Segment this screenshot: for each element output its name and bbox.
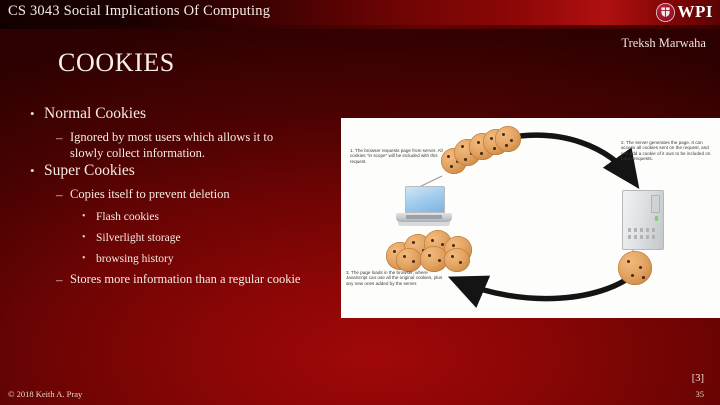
bullet-text: browsing history <box>96 252 174 266</box>
presentation-slide: CS 3043 Social Implications Of Computing… <box>0 0 720 405</box>
slide-header-band: CS 3043 Social Implications Of Computing… <box>0 0 720 25</box>
slide-title: COOKIES <box>58 48 175 78</box>
single-cookie-icon <box>618 251 652 285</box>
laptop-icon <box>396 186 452 228</box>
author-name: Treksh Marwaha <box>621 36 706 51</box>
server-icon <box>622 190 664 250</box>
bullet-marker: • <box>30 104 44 124</box>
bullet-item: • Silverlight storage <box>82 231 340 245</box>
bullet-marker: – <box>56 187 70 203</box>
bullet-text: Super Cookies <box>44 161 135 181</box>
bullet-item: – Stores more information than a regular… <box>56 272 340 288</box>
bullet-text: Silverlight storage <box>96 231 181 245</box>
slide-number: 35 <box>696 389 705 399</box>
bullet-item: • Normal Cookies <box>30 104 340 124</box>
bullet-marker: • <box>82 231 96 245</box>
bullet-marker: • <box>82 210 96 224</box>
diagram-step-1-text: 1. The browser requests page from server… <box>350 148 446 164</box>
bullet-text: Flash cookies <box>96 210 159 224</box>
bullet-marker: • <box>30 161 44 181</box>
copyright-notice: © 2018 Keith A. Pray <box>8 389 82 399</box>
cookie-cycle-diagram: 1. The browser requests page from server… <box>341 118 720 318</box>
cookie-stack-icon <box>386 230 476 272</box>
bullet-item: • Super Cookies <box>30 161 340 181</box>
bullet-item: • browsing history <box>82 252 340 266</box>
cookie-stack-icon <box>441 126 521 174</box>
wpi-logo: WPI <box>656 1 714 23</box>
bullet-item: – Copies itself to prevent deletion <box>56 187 340 203</box>
bullet-text: Ignored by most users which allows it to… <box>70 130 306 161</box>
bullet-item: • Flash cookies <box>82 210 340 224</box>
bullet-marker: – <box>56 272 70 288</box>
bullet-item: – Ignored by most users which allows it … <box>56 130 340 161</box>
wpi-logo-text: WPI <box>678 2 714 22</box>
bullet-text: Copies itself to prevent deletion <box>70 187 306 203</box>
bullet-marker: • <box>82 252 96 266</box>
bullet-text: Stores more information than a regular c… <box>70 272 306 288</box>
diagram-step-2-text: 2. The server generates the page. It can… <box>621 140 716 162</box>
bullet-marker: – <box>56 130 70 161</box>
citation-reference: [3] <box>692 373 704 384</box>
wpi-crest-icon <box>656 3 675 22</box>
bullet-text: Normal Cookies <box>44 104 146 124</box>
course-title: CS 3043 Social Implications Of Computing <box>8 3 270 20</box>
slide-body-bullets: • Normal Cookies – Ignored by most users… <box>30 104 340 287</box>
diagram-step-3-text: 3. The page loads in the browser, where … <box>346 270 446 286</box>
